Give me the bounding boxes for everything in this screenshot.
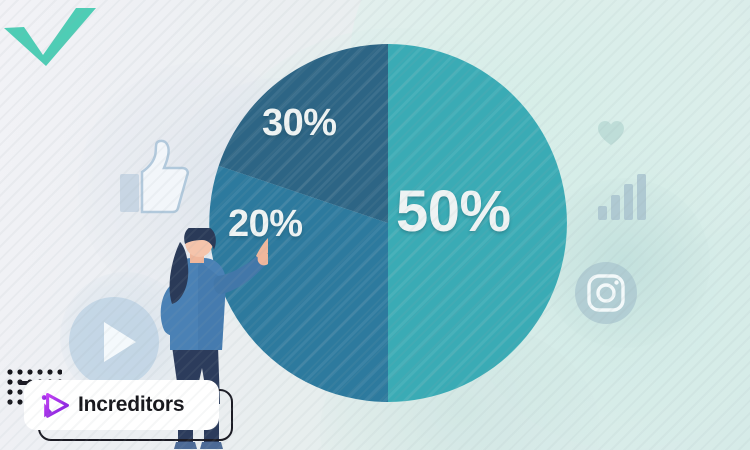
pie-label-50: 50% — [396, 178, 511, 245]
pie-label-20: 20% — [228, 203, 303, 246]
thumbs-up-icon — [118, 138, 190, 216]
heart-icon — [597, 120, 625, 146]
bar-chart-icon — [596, 170, 648, 222]
illustration-canvas: 50% 30% 20% — [0, 0, 750, 450]
check-icon — [2, 2, 98, 68]
pie-label-30: 30% — [262, 102, 337, 145]
play-triangle-icon — [40, 390, 70, 420]
brand-name: Increditors — [78, 393, 184, 417]
brand-logo[interactable]: Increditors — [24, 380, 219, 430]
instagram-icon — [575, 262, 637, 324]
